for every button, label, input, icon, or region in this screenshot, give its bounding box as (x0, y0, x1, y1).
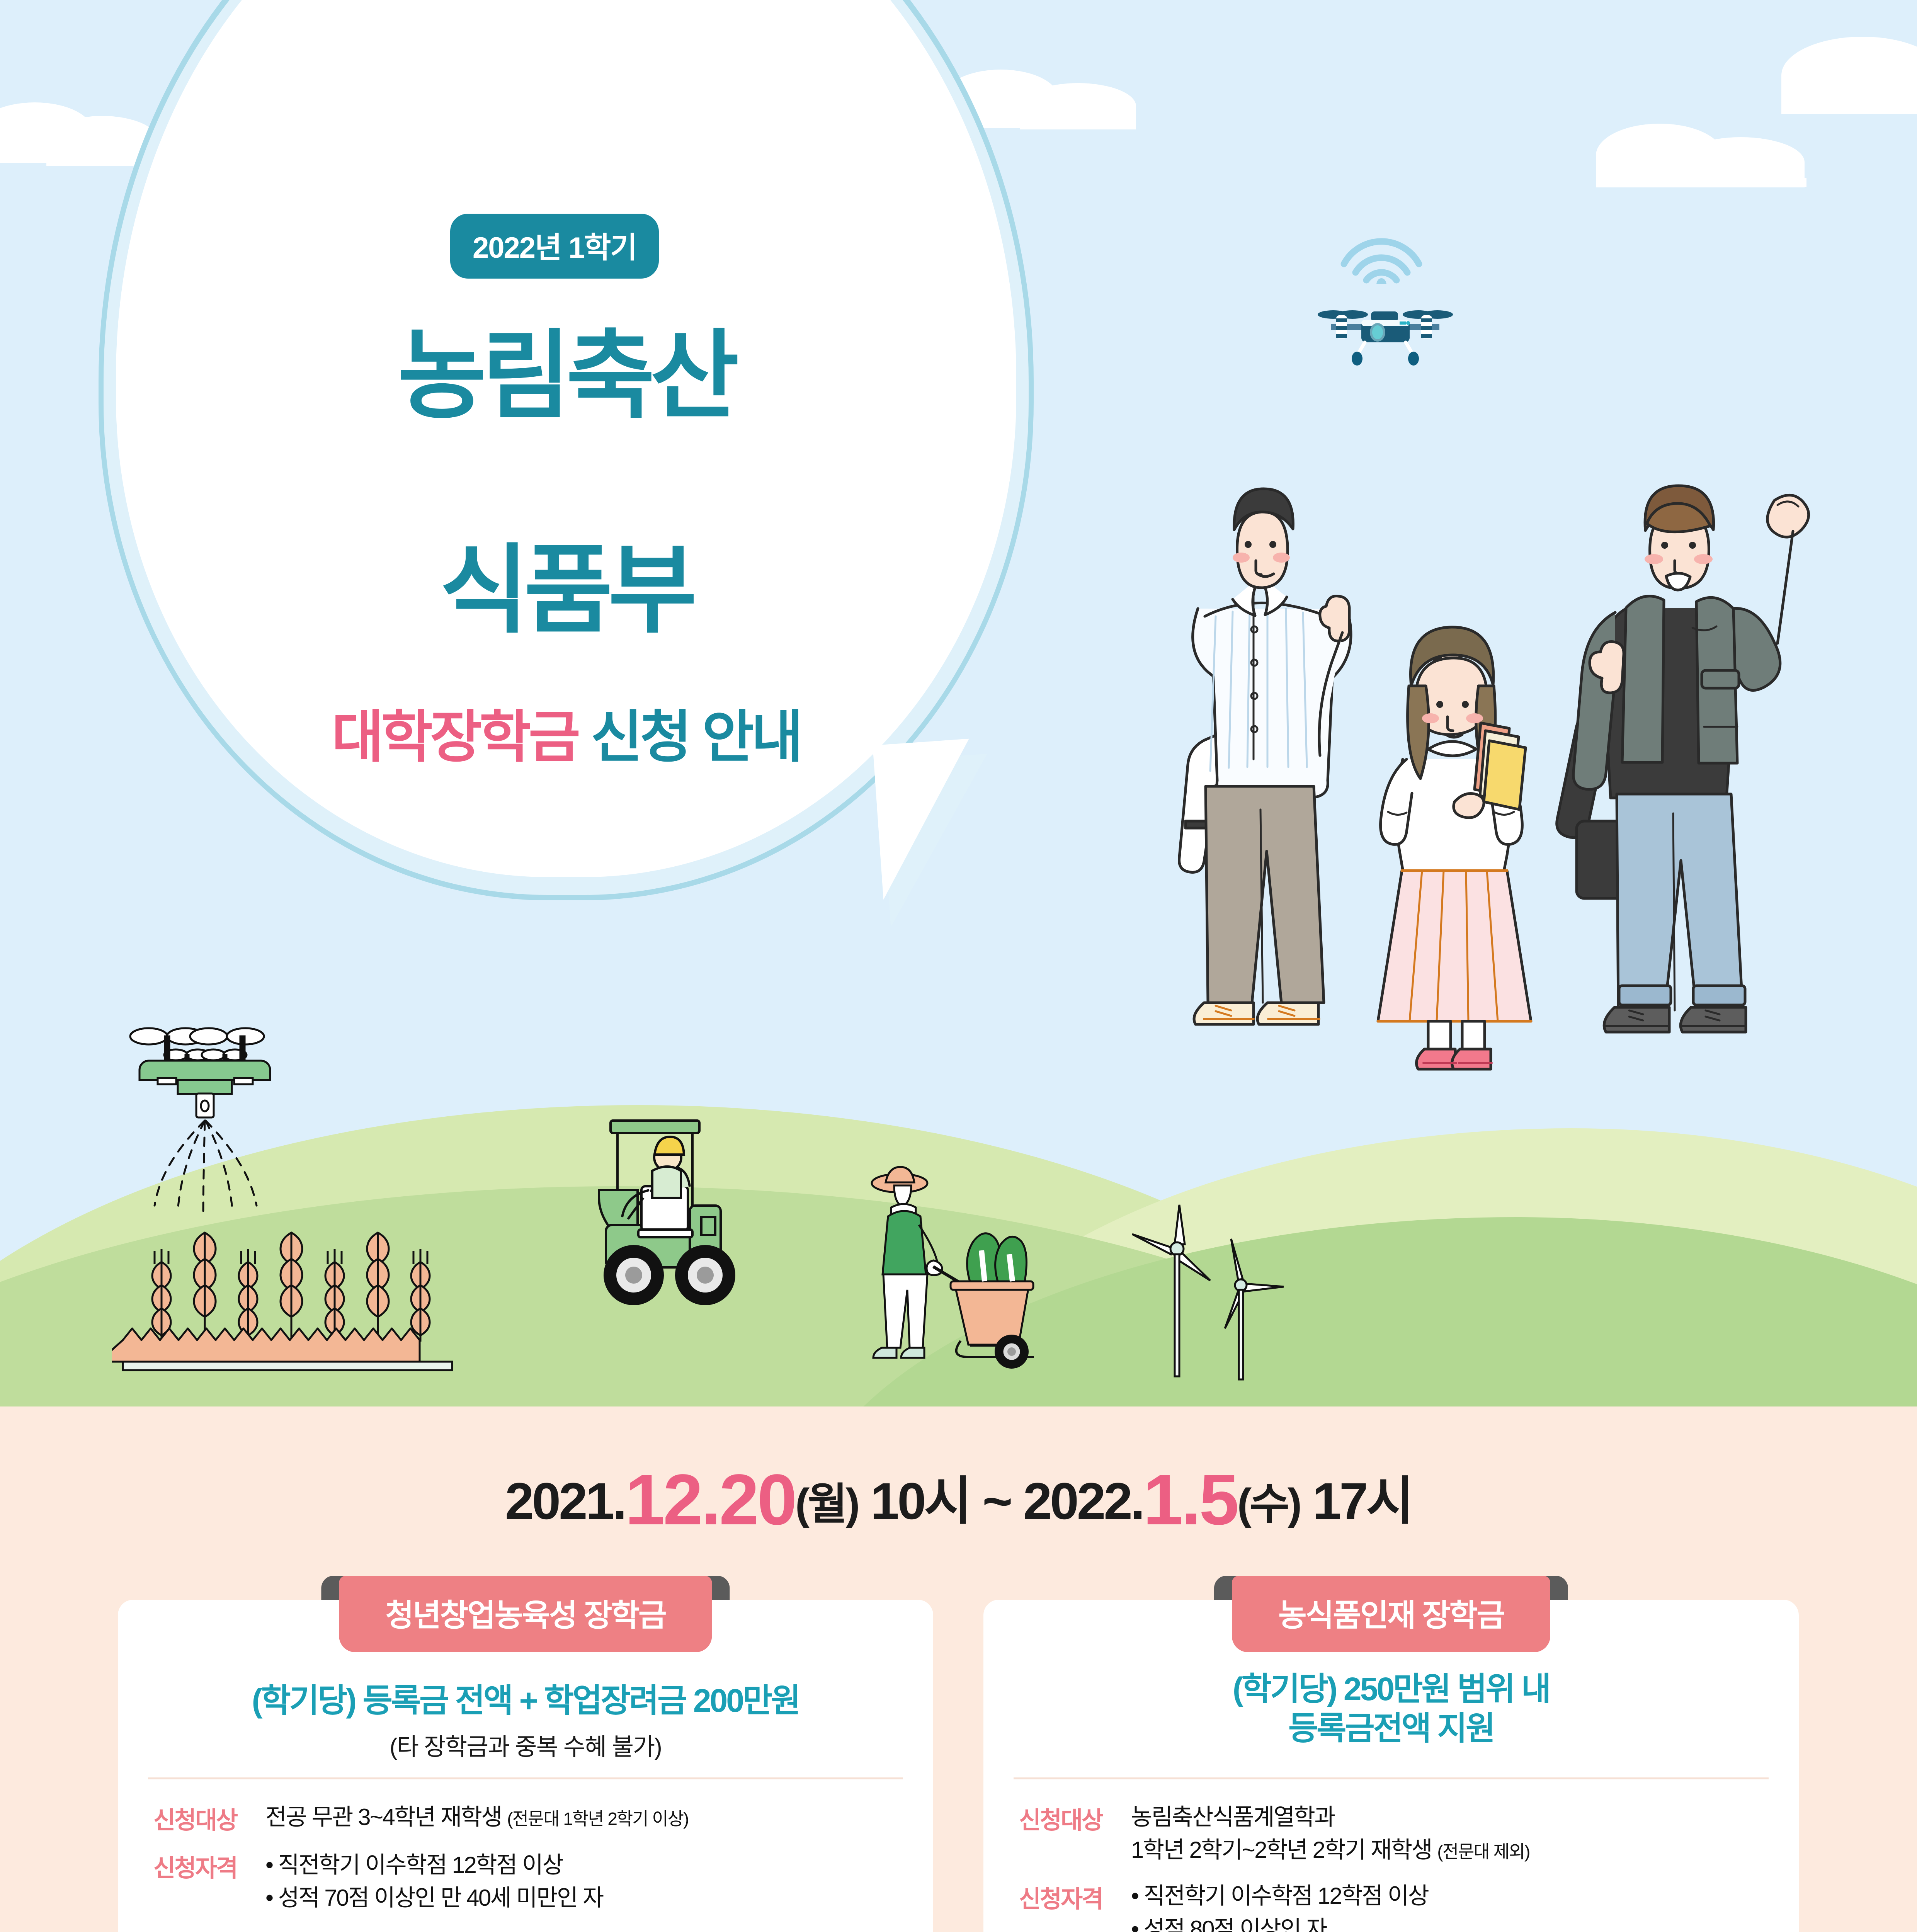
page-subtitle: 대학장학금 신청 안내 (114, 692, 1018, 773)
card-amount-line2: 등록금전액 지원 (983, 1709, 1799, 1748)
card-amount: (학기당) 등록금 전액 + 학업장려금 200만원 (118, 1681, 933, 1720)
card-title-ribbon: 농식품인재 장학금 (1232, 1576, 1550, 1652)
qualification-bullet: • 직전학기 이수학점 12학점 이상 (265, 1849, 603, 1881)
card-detail-rows: 신청대상 전공 무관 3~4학년 재학생 (전문대 1학년 2학기 이상) 신청… (153, 1801, 903, 1932)
target-note: (전문대 제외) (1437, 1842, 1529, 1862)
tractor-icon (553, 1109, 784, 1349)
target-text: 전공 무관 3~4학년 재학생 (265, 1804, 507, 1830)
period-start-day: (월) (795, 1480, 858, 1528)
application-period: 2021.12.20(월) 10시 ~ 2022.1.5(수) 17시 (0, 1459, 1917, 1541)
target-line1: 농림축산식품계열학과 (1131, 1801, 1529, 1833)
students-illustration (1136, 462, 1870, 1196)
row-body-qualification: • 직전학기 이수학점 12학점 이상 • 성적 80점 이상인 자 (1131, 1879, 1428, 1932)
qualification-bullet: • 성적 70점 이상인 만 40세 미만인 자 (265, 1881, 603, 1914)
period-end-date: 1.5 (1143, 1460, 1237, 1540)
detail-row-qualification: 신청자격 • 직전학기 이수학점 12학점 이상 • 성적 80점 이상인 자 (1019, 1879, 1769, 1932)
card-divider (1014, 1777, 1769, 1779)
row-label-obligation: 의무사항 (153, 1927, 265, 1932)
subtitle-rest: 신청 안내 (578, 706, 800, 769)
row-body-qualification: • 직전학기 이수학점 12학점 이상 • 성적 70점 이상인 만 40세 미… (265, 1849, 603, 1914)
period-end-day: (수) (1237, 1480, 1300, 1528)
target-line2-wrap: 1학년 2학기~2학년 2학기 재학생 (전문대 제외) (1131, 1833, 1529, 1866)
row-label-qualification: 신청자격 (153, 1849, 265, 1883)
period-start-time: 10시 (858, 1473, 983, 1530)
period-start-date: 12.20 (625, 1460, 795, 1540)
card-title-ribbon: 청년창업농육성 장학금 (339, 1576, 712, 1652)
row-label-target: 신청대상 (1019, 1801, 1131, 1835)
wifi-signal-icon (1337, 226, 1426, 284)
target-line2: 1학년 2학기~2학년 2학기 재학생 (1131, 1837, 1437, 1863)
cloud-right-band (1596, 178, 1806, 187)
target-note: (전문대 1학년 2학기 이상) (507, 1809, 688, 1829)
row-body-target: 전공 무관 3~4학년 재학생 (전문대 1학년 2학기 이상) (265, 1801, 688, 1833)
card-ribbon-wrap: 청년창업농육성 장학금 (339, 1576, 712, 1652)
period-end-year: 2022. (1023, 1473, 1143, 1530)
detail-row-qualification: 신청자격 • 직전학기 이수학점 12학점 이상 • 성적 70점 이상인 만 … (153, 1849, 903, 1914)
cloud-far-right (1781, 37, 1917, 114)
period-end-time: 17시 (1300, 1473, 1412, 1530)
row-body-obligation: • 졸업 후, 농림축산식품산업분야에 장학금 수혜 기간만큼 취업, 창업 (265, 1927, 692, 1932)
cloud-left-band (0, 155, 158, 163)
detail-row-target: 신청대상 농림축산식품계열학과 1학년 2학기~2학년 2학기 재학생 (전문대… (1019, 1801, 1769, 1866)
card-amount-line1: (학기당) 250만원 범위 내 (983, 1669, 1799, 1709)
farmer-wheelbarrow-icon (854, 1159, 1055, 1376)
detail-row-target: 신청대상 전공 무관 3~4학년 재학생 (전문대 1학년 2학기 이상) (153, 1801, 903, 1835)
page-title-line1: 농림축산 (114, 327, 1018, 425)
qualification-bullet: • 직전학기 이수학점 12학점 이상 (1131, 1879, 1428, 1912)
scholarship-card-youth-startup: 청년창업농육성 장학금 (학기당) 등록금 전액 + 학업장려금 200만원 (… (118, 1600, 933, 1932)
card-ribbon-wrap: 농식품인재 장학금 (1232, 1576, 1550, 1652)
scholarship-card-agrifood-talent: 농식품인재 장학금 (학기당) 250만원 범위 내 등록금전액 지원 신청대상… (983, 1600, 1799, 1932)
page-title-line2: 식품부 (114, 541, 1018, 639)
hero-sky: 2022년 1학기 농림축산 식품부 대학장학금 신청 안내 (0, 0, 1917, 1406)
drone-icon (1310, 301, 1461, 371)
qualification-bullet: • 성적 80점 이상인 자 (1131, 1913, 1428, 1932)
detail-row-obligation: 의무사항 • 졸업 후, 농림축산식품산업분야에 장학금 수혜 기간만큼 취업,… (153, 1927, 903, 1932)
card-amount: (학기당) 250만원 범위 내 등록금전액 지원 (983, 1669, 1799, 1748)
wheat-crop-icon (112, 1001, 498, 1387)
subtitle-highlight: 대학장학금 (332, 706, 578, 769)
year-badge: 2022년 1학기 (450, 214, 659, 279)
row-label-qualification: 신청자격 (1019, 1879, 1131, 1914)
period-tilde: ~ (982, 1473, 1023, 1530)
row-label-target: 신청대상 (153, 1801, 265, 1835)
card-amount-note: (타 장학금과 중복 수혜 불가) (118, 1727, 933, 1762)
poster-root: 2022년 1학기 농림축산 식품부 대학장학금 신청 안내 2021.12.2… (0, 0, 1917, 1932)
row-body-target: 농림축산식품계열학과 1학년 2학기~2학년 2학기 재학생 (전문대 제외) (1131, 1801, 1529, 1866)
wind-turbine-icon (1109, 1198, 1310, 1399)
card-divider (148, 1777, 903, 1779)
card-detail-rows: 신청대상 농림축산식품계열학과 1학년 2학기~2학년 2학기 재학생 (전문대… (1019, 1801, 1769, 1932)
cloud-far-right-band (1781, 104, 1917, 114)
period-start-year: 2021. (505, 1473, 625, 1530)
obligation-bullet: • 졸업 후, 농림축산식품산업분야에 장학금 수혜 (265, 1927, 692, 1932)
